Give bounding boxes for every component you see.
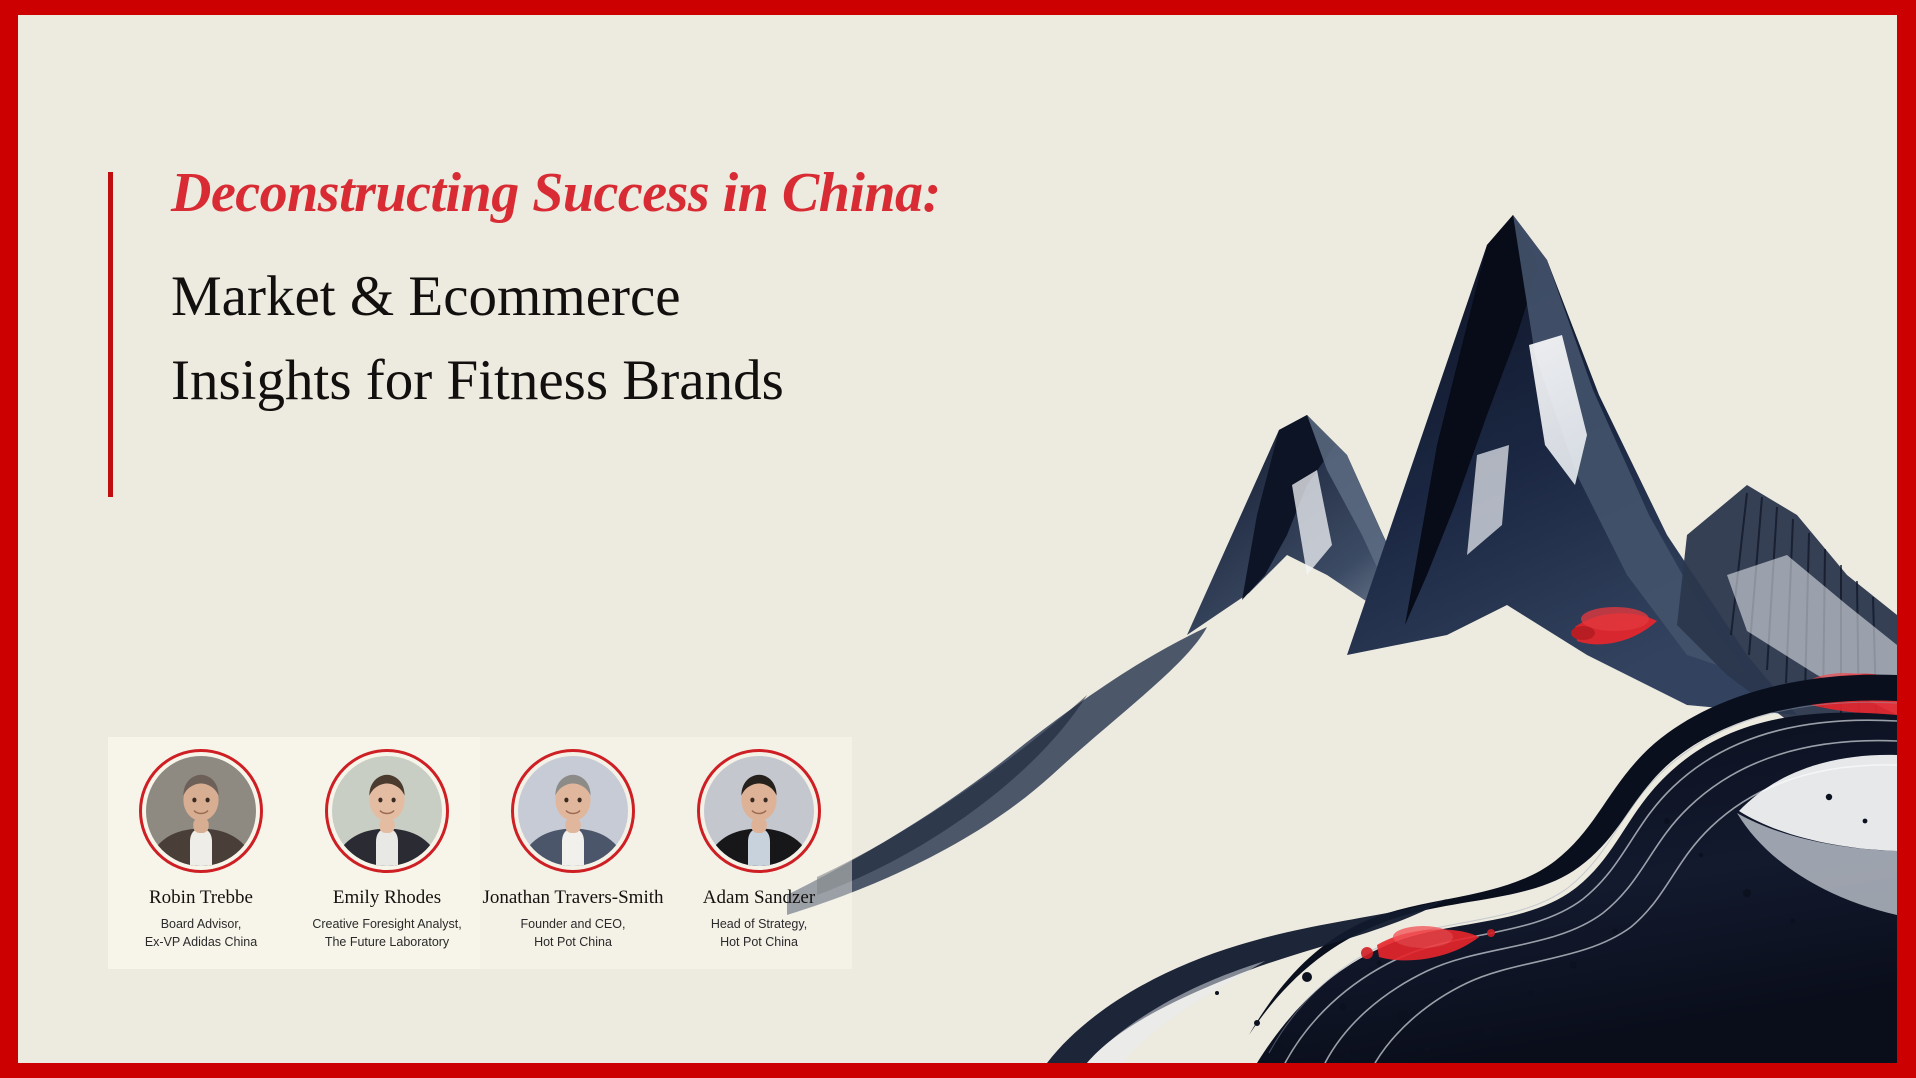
speaker-role-line-1: Board Advisor, [161,917,242,931]
avatar-adam-sandzer [704,756,814,866]
speaker-role: Founder and CEO, Hot Pot China [521,915,626,951]
headline-line-1: Market & Ecommerce [171,268,681,325]
speaker-name: Robin Trebbe [149,887,253,909]
red-accent-bar [108,172,113,497]
speaker-role: Creative Foresight Analyst, The Future L… [312,915,461,951]
speaker-role: Head of Strategy, Hot Pot China [711,915,807,951]
avatar-emily-rhodes [332,756,442,866]
speaker-role-line-1: Creative Foresight Analyst, [312,917,461,931]
speaker-name: Adam Sandzer [703,887,815,909]
speaker-role: Board Advisor, Ex-VP Adidas China [145,915,257,951]
speaker-role-line-2: Hot Pot China [720,935,798,949]
speaker-card: Robin Trebbe Board Advisor, Ex-VP Adidas… [108,737,294,969]
headline-line-2: Insights for Fitness Brands [171,352,784,409]
speaker-name: Jonathan Travers-Smith [482,887,663,909]
speaker-role-line-2: The Future Laboratory [325,935,449,949]
speaker-card: Emily Rhodes Creative Foresight Analyst,… [294,737,480,969]
title-block: Deconstructing Success in China: Market … [108,172,1088,497]
avatar-emily-rhodes-ring [325,749,449,873]
speaker-card: Jonathan Travers-Smith Founder and CEO, … [480,737,666,969]
speaker-card: Adam Sandzer Head of Strategy, Hot Pot C… [666,737,852,969]
slide-canvas: Deconstructing Success in China: Market … [18,15,1897,1063]
avatar-robin-trebbe [146,756,256,866]
speaker-role-line-1: Founder and CEO, [521,917,626,931]
avatar-adam-sandzer-ring [697,749,821,873]
title-eyebrow: Deconstructing Success in China: [171,165,941,221]
speaker-list: Robin Trebbe Board Advisor, Ex-VP Adidas… [108,737,852,969]
speaker-role-line-1: Head of Strategy, [711,917,807,931]
speaker-name: Emily Rhodes [333,887,441,909]
avatar-robin-trebbe-ring [139,749,263,873]
avatar-jonathan-travers-smith-ring [511,749,635,873]
speaker-role-line-2: Hot Pot China [534,935,612,949]
avatar-jonathan-travers-smith [518,756,628,866]
speaker-role-line-2: Ex-VP Adidas China [145,935,257,949]
